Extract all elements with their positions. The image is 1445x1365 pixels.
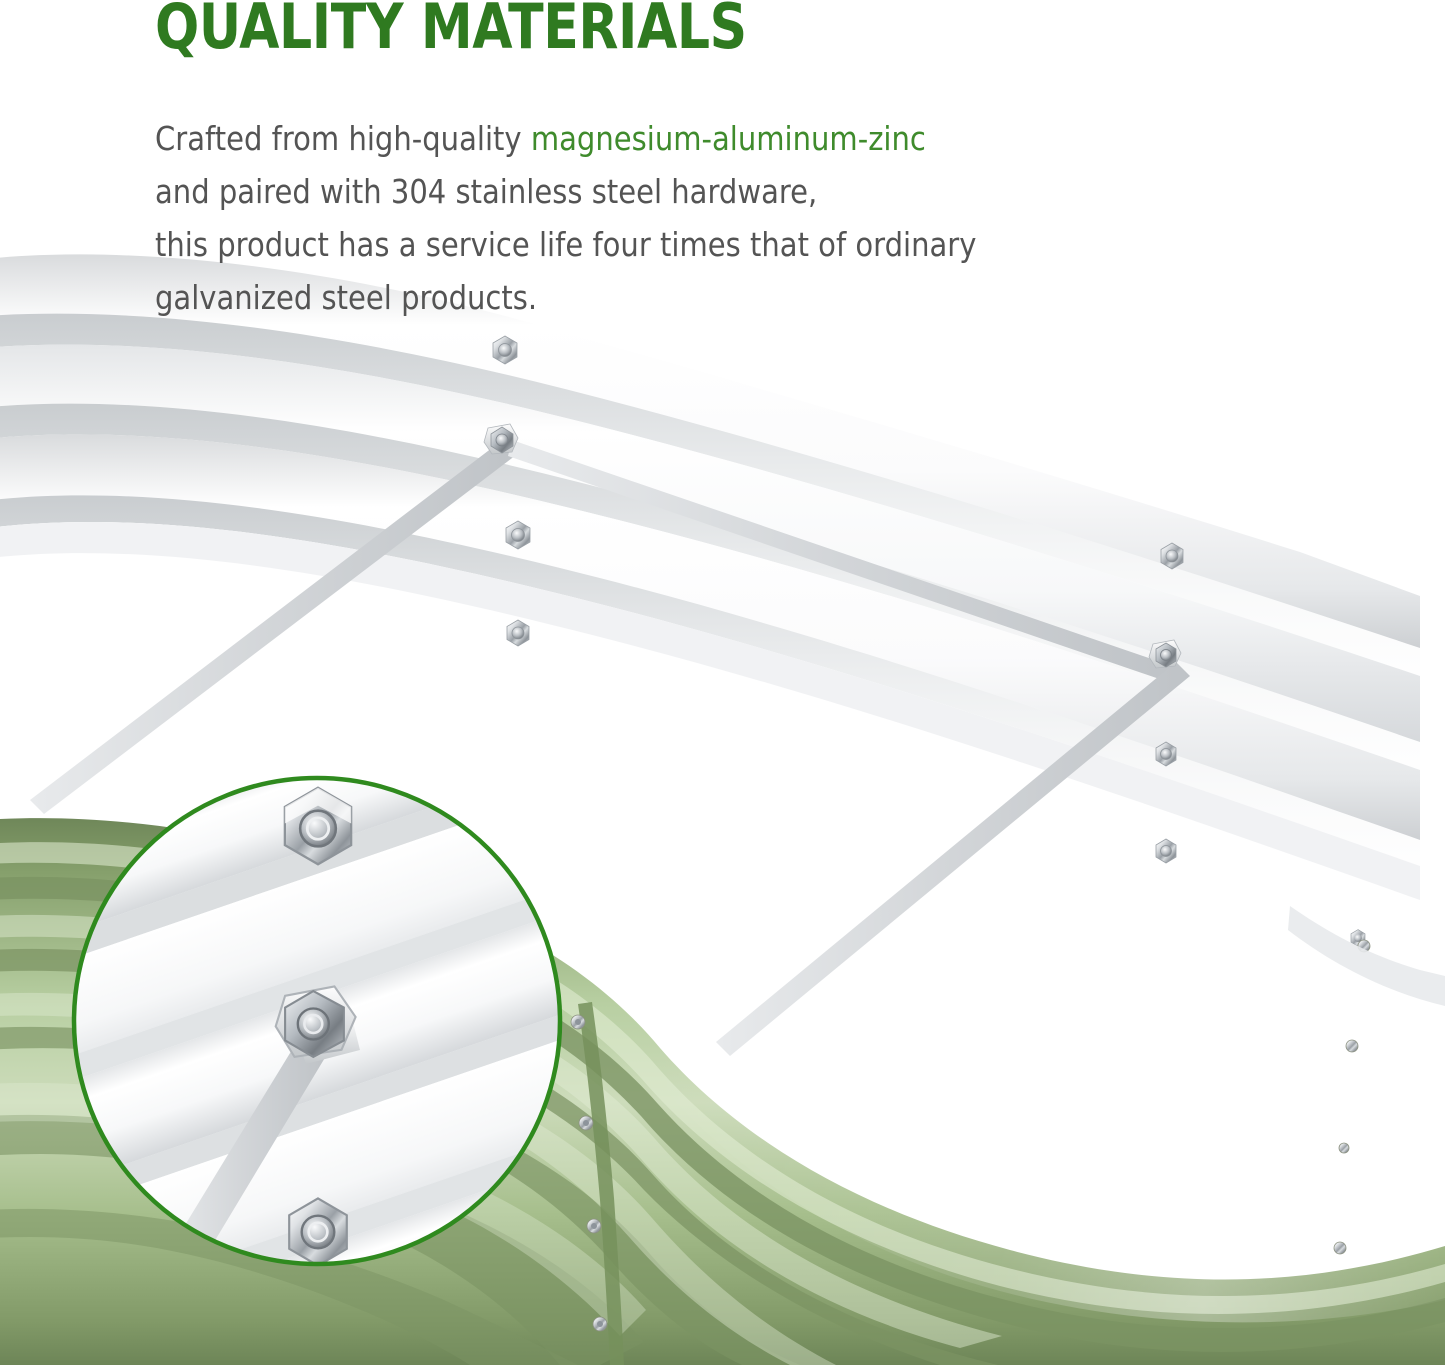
seam-screw <box>593 1317 607 1331</box>
product-feature-image: QUALITY MATERIALS Crafted from high-qual… <box>0 0 1445 1365</box>
seam-screw <box>587 1219 601 1233</box>
description-line-4: galvanized steel products. <box>155 271 1141 324</box>
hex-bolt <box>484 424 518 454</box>
seam-screw <box>571 1015 585 1029</box>
description-line-3: this product has a service life four tim… <box>155 218 1141 271</box>
description-line-1-plain: Crafted from high-quality <box>155 119 531 158</box>
description-line-2: and paired with 304 stainless steel hard… <box>155 165 1141 218</box>
seam-screw <box>1346 1040 1358 1052</box>
description-line-1: Crafted from high-quality magnesium-alum… <box>155 112 1141 165</box>
hex-bolt <box>1149 640 1181 668</box>
material-highlight: magnesium-aluminum-zinc <box>531 119 926 158</box>
description-text: Crafted from high-quality magnesium-alum… <box>155 112 1141 324</box>
seam-screw <box>579 1116 593 1130</box>
seam-screw <box>1339 1143 1349 1153</box>
page-title: QUALITY MATERIALS <box>155 0 747 59</box>
seam-screw <box>1334 1242 1346 1254</box>
